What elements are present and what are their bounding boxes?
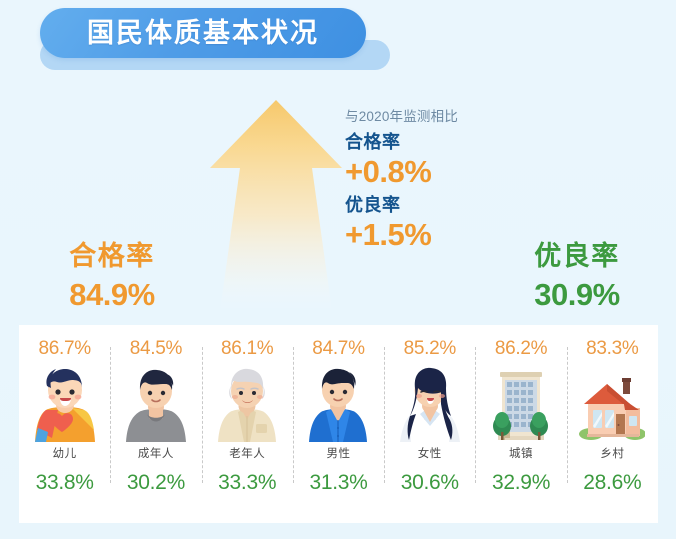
comparison-label-excellent: 优良率 xyxy=(345,196,525,214)
breakdown-column-adult: 84.5% 成年人 30.2% xyxy=(110,325,201,523)
pass-rate-value: 84.7% xyxy=(312,339,364,358)
category-label: 成年人 xyxy=(138,449,174,461)
adult-avatar-icon xyxy=(120,364,192,444)
breakdown-column-child: 86.7% xyxy=(19,325,110,523)
infographic-page: 国民体质基本状况 与2020年监测相比 合格率 +0.8% 优良率 +1.5% … xyxy=(0,0,676,539)
excellent-rate-value: 30.6% xyxy=(401,472,459,493)
breakdown-column-rural: 83.3% xyxy=(567,325,658,523)
excellent-rate-value: 30.2% xyxy=(127,472,185,493)
excellent-rate-value: 33.8% xyxy=(36,472,94,493)
comparison-block: 与2020年监测相比 合格率 +0.8% 优良率 +1.5% xyxy=(345,110,525,259)
pass-rate-value: 86.1% xyxy=(221,339,273,358)
summary-stat-pass-rate: 合格率 84.9% xyxy=(22,243,202,310)
category-label: 老年人 xyxy=(229,449,265,461)
male-avatar-icon xyxy=(302,364,374,444)
female-avatar-icon xyxy=(394,364,466,444)
elder-avatar-icon xyxy=(211,364,283,444)
breakdown-column-male: 84.7% 男性 31.3 xyxy=(293,325,384,523)
excellent-rate-value: 28.6% xyxy=(583,472,641,493)
comparison-value-pass: +0.8% xyxy=(345,156,525,187)
upward-arrow-icon xyxy=(208,98,344,313)
pass-rate-value: 84.5% xyxy=(130,339,182,358)
summary-value-excellent: 30.9% xyxy=(487,279,667,310)
breakdown-column-urban: 86.2% xyxy=(475,325,566,523)
pass-rate-value: 86.2% xyxy=(495,339,547,358)
summary-label-pass: 合格率 xyxy=(22,243,202,270)
category-label: 幼儿 xyxy=(53,449,77,461)
summary-stat-excellent-rate: 优良率 30.9% xyxy=(487,243,667,310)
category-label: 女性 xyxy=(418,449,442,461)
category-label: 男性 xyxy=(326,449,350,461)
child-avatar-icon xyxy=(29,364,101,444)
rural-house-icon xyxy=(576,364,648,444)
city-building-icon xyxy=(485,364,557,444)
excellent-rate-value: 32.9% xyxy=(492,472,550,493)
comparison-caption: 与2020年监测相比 xyxy=(345,110,525,124)
pass-rate-value: 86.7% xyxy=(38,339,90,358)
category-label: 城镇 xyxy=(509,449,533,461)
category-label: 乡村 xyxy=(600,449,624,461)
breakdown-card: 86.7% xyxy=(19,325,658,523)
pass-rate-value: 83.3% xyxy=(586,339,638,358)
pass-rate-value: 85.2% xyxy=(404,339,456,358)
summary-value-pass: 84.9% xyxy=(22,279,202,310)
title-pill: 国民体质基本状况 xyxy=(40,8,366,58)
summary-label-excellent: 优良率 xyxy=(487,243,667,270)
page-title: 国民体质基本状况 xyxy=(87,20,319,47)
breakdown-column-female: 85.2% xyxy=(384,325,475,523)
comparison-label-pass: 合格率 xyxy=(345,133,525,151)
breakdown-column-elderly: 86.1% xyxy=(202,325,293,523)
excellent-rate-value: 31.3% xyxy=(309,472,367,493)
excellent-rate-value: 33.3% xyxy=(218,472,276,493)
